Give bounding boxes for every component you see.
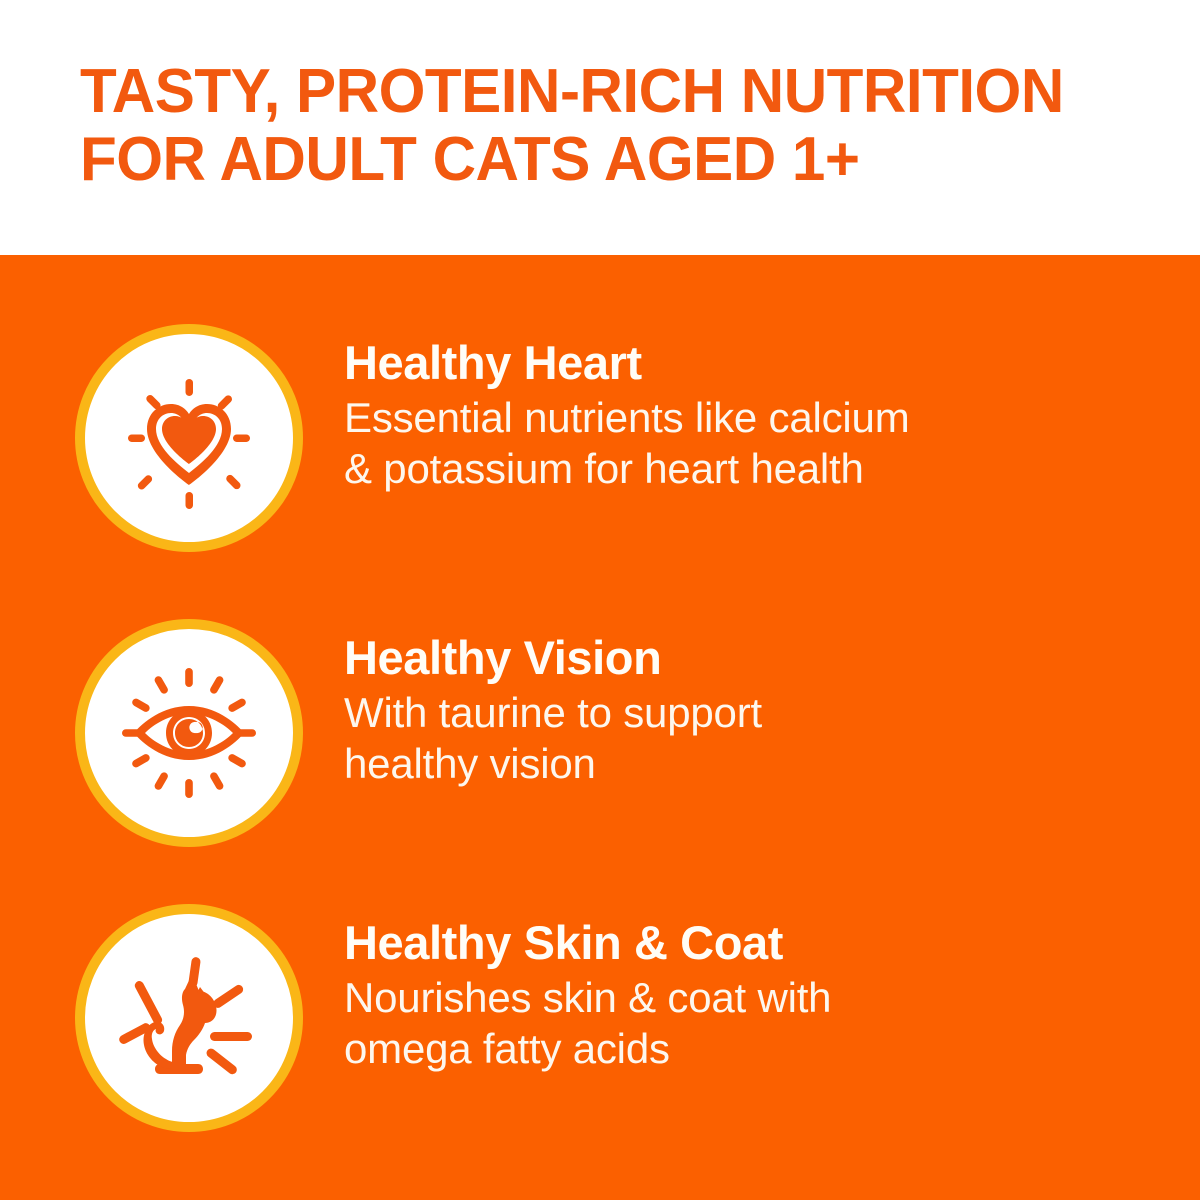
feature-text-block: Healthy Skin & Coat Nourishes skin & coa…	[344, 916, 1164, 1074]
feature-description: Essential nutrients like calcium & potas…	[344, 392, 1164, 494]
radiant-eye-icon	[112, 656, 266, 810]
radiant-heart-icon	[114, 363, 264, 513]
feature-text-block: Healthy Vision With taurine to support h…	[344, 631, 1164, 789]
radiant-cat-icon	[114, 943, 264, 1093]
icon-badge-cat	[75, 904, 303, 1132]
feature-title: Healthy Skin & Coat	[344, 916, 1164, 970]
feature-description: Nourishes skin & coat with omega fatty a…	[344, 972, 1164, 1074]
feature-title: Healthy Heart	[344, 336, 1164, 390]
header-band: TASTY, PROTEIN-RICH NUTRITION FOR ADULT …	[0, 0, 1200, 255]
icon-badge-eye	[75, 619, 303, 847]
feature-title: Healthy Vision	[344, 631, 1164, 685]
features-band: Healthy Heart Essential nutrients like c…	[0, 255, 1200, 1200]
page-title: TASTY, PROTEIN-RICH NUTRITION FOR ADULT …	[80, 58, 1108, 194]
icon-badge-heart	[75, 324, 303, 552]
feature-text-block: Healthy Heart Essential nutrients like c…	[344, 336, 1164, 494]
feature-description: With taurine to support healthy vision	[344, 687, 1164, 789]
infographic-page: TASTY, PROTEIN-RICH NUTRITION FOR ADULT …	[0, 0, 1200, 1200]
